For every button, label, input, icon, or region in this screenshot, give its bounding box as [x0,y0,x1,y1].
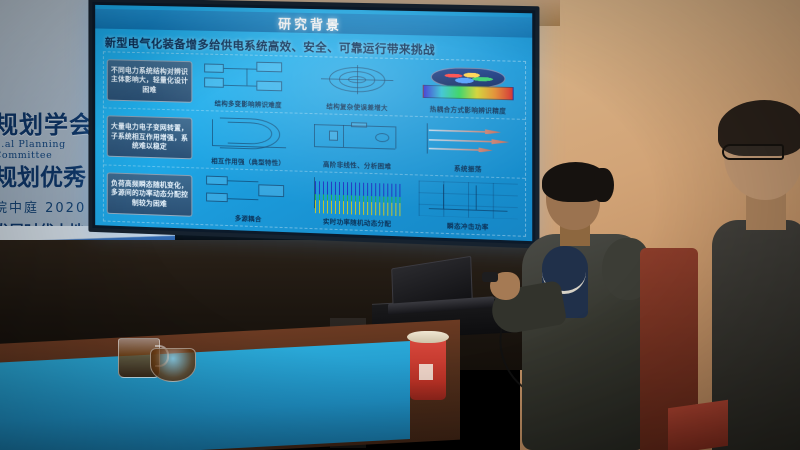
slide-panel: 系统振荡 [414,119,522,175]
cup-lid [407,331,449,343]
red-paper-coffee-cup[interactable] [410,338,446,400]
presenter-hair [542,162,608,202]
figure-caption: 结构复杂使误差增大 [304,100,410,114]
slide-title-bar: 研究背景 [95,9,532,38]
row-chip-label: 大量电力电子变网转置，子系统相互作用增强，系统难以稳定 [107,116,193,160]
eyeglasses-icon [722,144,784,160]
slide-panel: 结构多变影响辨识难度 [196,56,300,111]
figure-heatmap-3d [416,62,520,104]
figure-caption: 实时功率随机动态分配 [304,215,410,230]
glass-tea-bowl[interactable] [150,348,196,382]
figure-multi-source-diagram [198,171,298,214]
slide-title: 研究背景 [278,13,342,33]
figure-caption: 热耦合方式影响辨识精度 [414,103,522,117]
figure-caption: 多源耦合 [196,211,300,226]
cup-label [419,364,433,380]
figure-waveforms [306,175,408,218]
presenter-person [498,168,658,450]
conference-room-scene: 规划学会 ...al Planning Committee 规划优秀 院中庭 2… [0,0,800,450]
row-chip-label: 不同电力系统结构对辨识主体影响大，轻量化设计困难 [107,59,193,103]
slide-panel: 相互作用强（典型特性） [196,113,300,168]
figure-curve-plot [198,114,298,156]
slide-content-area: 不同电力系统结构对辨识主体影响大，轻量化设计困难 结构多变影响辨识难度 [103,51,526,237]
slide-row: 负荷高频瞬态随机变化，多源间的功率动态分配控制较为困难 多源耦合 [104,165,525,236]
red-object-on-table [668,400,728,450]
row-chip-label: 负荷高频瞬态随机变化，多源间的功率动态分配控制较为困难 [107,172,193,216]
slide-panel: 实时功率随机动态分配 [304,173,410,229]
attendee-person [684,104,800,450]
slide-panel: 热耦合方式影响辨识精度 [414,61,522,117]
slide-surface: 研究背景 新型电气化装备增多给供电系统高效、安全、可靠运行带来挑战 不同电力系统… [95,5,532,241]
figure-caption: 高阶非线性、分析困难 [304,157,410,171]
figure-circuit-diagram [306,117,408,159]
presenter-clicker[interactable] [482,272,498,282]
projection-screen[interactable]: 研究背景 新型电气化装备增多给供电系统高效、安全、可靠运行带来挑战 不同电力系统… [88,0,539,249]
figure-block-diagram [198,57,298,99]
figure-caption: 结构多变影响辨识难度 [196,97,300,111]
slide-panel: 多源耦合 [196,170,300,226]
figure-caption: 相互作用强（典型特性） [196,154,300,168]
slide-panel: 高阶非线性、分析困难 [304,116,410,172]
figure-arrow-bars [416,120,520,163]
slide-panel: 结构复杂使误差增大 [304,59,410,114]
heat-color-scale [422,85,513,101]
figure-spiral-plot [306,60,408,102]
